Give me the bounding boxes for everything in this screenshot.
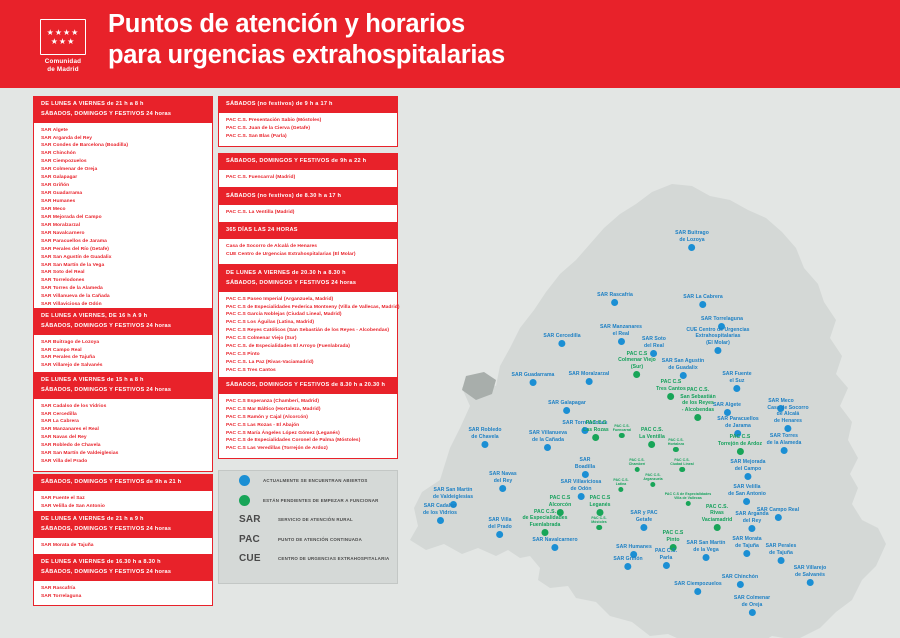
panel-item: PAC C.S Los Águilas (Latina, Madrid) <box>226 319 390 327</box>
map-point[interactable]: SAR Robledo de Chavela <box>468 427 501 448</box>
map-point[interactable]: Casa de Socorro de Alcalá de Henares <box>767 405 808 433</box>
map-point[interactable]: SAR San Agustín de Guadalix <box>662 358 704 379</box>
blue-dot-icon <box>436 517 443 524</box>
blue-dot-icon <box>582 471 589 478</box>
blue-dot-icon <box>625 563 632 570</box>
panel-item: PAC C.S. Fuencarral (Madrid) <box>226 174 390 182</box>
panel-item: SAR Torres de la Alameda <box>41 285 205 293</box>
map-point[interactable]: PAC C.S. San Sebastián de los Reyes - Al… <box>680 387 715 421</box>
map-point[interactable]: SAR Navalcarnero <box>532 537 577 552</box>
legend-key: PAC <box>239 534 273 545</box>
map-point-label: SAR Torres de la Alameda <box>767 433 802 446</box>
map-point[interactable]: SAR Navas del Rey <box>489 471 517 492</box>
panel-item: SAR Chinchón <box>41 150 205 158</box>
schedule-panel: SÁBADOS, DOMINGOS Y FESTIVOS de 9h a 22 … <box>218 153 398 188</box>
map-point[interactable]: SAR Boadilla <box>575 457 595 478</box>
panel-items: PAC C.S. Fuencarral (Madrid) <box>219 170 397 187</box>
panel-item: SAR Colmenar de Oreja <box>41 166 205 174</box>
legend-label: PUNTO DE ATENCIÓN CONTINUADA <box>278 537 362 542</box>
map-point-label: SAR Fuente el Suz <box>722 371 751 384</box>
blue-dot-icon <box>781 447 788 454</box>
green-dot-icon <box>694 414 701 421</box>
map-point-label: SAR Meco <box>768 398 794 405</box>
map-point-label: SAR Chinchón <box>722 574 758 581</box>
panel-item: SAR Condes de Barcelona (Boadilla) <box>41 142 205 150</box>
blue-dot-icon <box>734 385 741 392</box>
legend-key: CUE <box>239 553 273 564</box>
green-dot-icon <box>593 434 600 441</box>
panel-item: PAC C.S Esperanza (Chamberí, Madrid) <box>226 398 390 406</box>
panel-items: PAC C.S. La Ventilla (Madrid) <box>219 205 397 222</box>
map-point[interactable]: PAC C.S. Ciudad Lineal <box>670 458 694 473</box>
map-point[interactable]: SAR Arganda del Rey <box>735 511 768 532</box>
map-point-label: PAC C.S Torrejón de Ardoz <box>718 434 762 447</box>
green-dot-icon <box>239 495 250 506</box>
map-point[interactable]: PAC C.S. Hortaleza <box>668 438 684 453</box>
map-point[interactable]: PAC C.S Colmenar Viejo (Sur) <box>618 351 656 379</box>
green-dot-icon <box>619 433 625 439</box>
panel-items: PAC C.S. Presentación Sabio (Móstoles)PA… <box>219 113 397 146</box>
panel-heading: SÁBADOS, DOMINGOS Y FESTIVOS de 9h a 21 … <box>34 475 212 491</box>
panel-heading-line: SÁBADOS, DOMINGOS Y FESTIVOS de 8.30 h a… <box>226 381 391 391</box>
schedule-panel: SÁBADOS, DOMINGOS Y FESTIVOS de 8.30 h a… <box>218 377 398 459</box>
blue-dot-icon <box>662 562 669 569</box>
logo-stars-bottom: ★★★ <box>51 38 76 46</box>
blue-dot-icon <box>784 425 791 432</box>
map-point-label: SAR La Cabrera <box>683 294 722 301</box>
map-point[interactable]: SAR Galapagar <box>548 400 586 415</box>
blue-dot-icon <box>748 609 755 616</box>
map-point[interactable]: SAR Rascafría <box>597 292 633 307</box>
map-point-label: SAR Galapagar <box>548 400 586 407</box>
green-dot-icon <box>618 487 624 493</box>
panel-item: SAR Morata de Tajuña <box>41 542 205 550</box>
panel-item: SAR Velilla de San Antonio <box>41 503 205 511</box>
comunidad-de-madrid-logo: ★★★★ ★★★ Comunidad de Madrid <box>32 19 94 71</box>
blue-dot-icon <box>496 531 503 538</box>
panel-item: PAC C.S Ramón y Cajal (Alcorcón) <box>226 414 390 422</box>
legend-row: PACPUNTO DE ATENCIÓN CONTINUADA <box>219 530 397 550</box>
blue-dot-icon <box>529 379 536 386</box>
green-dot-icon <box>668 393 675 400</box>
blue-dot-icon <box>744 498 751 505</box>
page-header: ★★★★ ★★★ Comunidad de Madrid Puntos de a… <box>0 0 900 88</box>
green-dot-icon <box>633 371 640 378</box>
page-title-line2: para urgencias extrahospitalarias <box>108 40 505 71</box>
legend-key: SAR <box>239 514 273 525</box>
schedule-panel: SÁBADOS (no festivos) de 9 h a 17 hPAC C… <box>218 96 398 147</box>
panel-item: PAC C.S Pinto <box>226 351 390 359</box>
map-point[interactable]: SAR Villanueva de la Cañada <box>529 430 567 451</box>
map-point-label: PAC C.S. Arganzuela <box>643 473 662 481</box>
map-point-label: SAR Villanueva de la Cañada <box>529 430 567 443</box>
map-point-label: SAR Mejorada del Campo <box>730 459 765 472</box>
map-point-label: SAR Guadarrama <box>512 372 555 379</box>
panel-item: SAR Algete <box>41 127 205 135</box>
map-point[interactable]: SAR Guadarrama <box>512 372 555 387</box>
map-point[interactable]: SAR Villarejo de Salvanés <box>794 565 827 586</box>
panel-item: PAC C.S de Especialidades Coronel de Pal… <box>226 437 390 445</box>
map-point-label: PAC C.S Leganés <box>589 495 610 508</box>
panel-heading-line: DE LUNES A VIERNES, DE 16 h A 9 h <box>41 312 206 322</box>
map-point[interactable]: PAC C.S Leganés <box>589 495 610 516</box>
panel-item: PAC C.S. San Blas (Parla) <box>226 133 390 141</box>
panel-item: SAR Robledo de Chavela <box>41 442 205 450</box>
panel-heading-line: SÁBADOS, DOMINGOS Y FESTIVOS de 9h a 22 … <box>226 157 391 167</box>
map-point-label: SAR Soto del Real <box>642 336 666 349</box>
panel-heading: DE LUNES A VIERNES de 15 h a 8 hSÁBADOS,… <box>34 373 212 399</box>
map-point-label: PAC C.S. Latina <box>613 478 628 486</box>
blue-dot-icon <box>577 493 584 500</box>
map-point[interactable]: SAR Perales de Tajuña <box>766 543 797 564</box>
panel-items: Casa de Socorro de Alcalá de HenaresCUE … <box>219 239 397 264</box>
panel-heading: DE LUNES A VIERNES, DE 16 h A 9 hSÁBADOS… <box>34 309 212 335</box>
blue-dot-icon <box>499 485 506 492</box>
map-point-label: PAC C.S. San Sebastián de los Reyes - Al… <box>680 387 715 413</box>
green-dot-icon <box>596 525 602 531</box>
panel-item: SAR Fuente el Saz <box>41 495 205 503</box>
blue-dot-icon <box>714 347 721 354</box>
schedule-panel: DE LUNES A VIERNES, DE 16 h A 9 hSÁBADOS… <box>33 308 213 376</box>
map-point[interactable]: SAR La Cabrera <box>683 294 722 309</box>
map-point-label: SAR Arganda del Rey <box>735 511 768 524</box>
panel-item: PAC C.S. Juan de la Cierva (Getafe) <box>226 125 390 133</box>
map-point-label: CUE Centro de Urgencias Extrahospitalari… <box>686 327 749 347</box>
panel-heading: SÁBADOS, DOMINGOS Y FESTIVOS de 9h a 22 … <box>219 154 397 170</box>
map-point-label: SAR Villa del Prado <box>488 517 512 530</box>
map-point[interactable]: SAR Mejorada del Campo <box>730 459 765 480</box>
schedule-panel: DE LUNES A VIERNES de 20.30 h a 8.30 hSÁ… <box>218 265 398 381</box>
page-title: Puntos de atención y horarios para urgen… <box>108 9 505 71</box>
schedule-panel: DE LUNES A VIERNES de 21 h a 9 hSÁBADOS,… <box>33 511 213 556</box>
blue-dot-icon <box>806 579 813 586</box>
map-point-label: SAR Perales de Tajuña <box>766 543 797 556</box>
panel-heading-line: SÁBADOS, DOMINGOS Y FESTIVOS 24 horas <box>41 386 206 396</box>
panel-heading: SÁBADOS (no festivos) de 9 h a 17 h <box>219 97 397 113</box>
map-point-label: PAC C.S. La Ventilla <box>639 427 665 440</box>
map-point[interactable]: SAR Buitrago de Lozoya <box>675 230 709 251</box>
panel-item: SAR Cadalso de los Vidrios <box>41 403 205 411</box>
map-point-label: SAR Algete <box>713 402 741 409</box>
legend-row: SARSERVICIO DE ATENCIÓN RURAL <box>219 510 397 530</box>
legend-label: ESTÁN PENDIENTES DE EMPEZAR A FUNCIONAR <box>263 498 379 503</box>
map-point[interactable]: PAC C.S. Latina <box>613 478 628 493</box>
map-point-label: PAC C.S. Rivas Vaciamadrid <box>702 504 733 524</box>
panel-item: SAR Galapagar <box>41 174 205 182</box>
panel-items: SAR AlgeteSAR Arganda del ReySAR Condes … <box>34 123 212 315</box>
map-point-label: PAC C.S Las Rozas <box>583 420 609 433</box>
map-point-label: SAR Buitrago de Lozoya <box>675 230 709 243</box>
panel-heading-line: SÁBADOS (no festivos) de 8.30 h a 17 h <box>226 192 391 202</box>
map-point-label: PAC C.S Pinto <box>663 530 684 543</box>
schedule-panel: DE LUNES A VIERNES de 21 h a 8 hSÁBADOS,… <box>33 96 213 315</box>
blue-dot-icon <box>724 409 731 416</box>
panel-item: SAR San Agustín de Guadalix <box>41 254 205 262</box>
panel-item: PAC C.S María Ángeles López Gómez (Legan… <box>226 430 390 438</box>
panel-heading: 365 DÍAS LAS 24 HORAS <box>219 223 397 239</box>
map-point[interactable]: SAR Morata de Tajuña <box>732 536 761 557</box>
blue-dot-icon <box>695 588 702 595</box>
legend-row: CUECENTRO DE URGENCIAS EXTRAHOSPITALARIA <box>219 549 397 569</box>
schedule-panel: DE LUNES A VIERNES de 16.30 h a 8.30 hSÁ… <box>33 554 213 606</box>
map-point[interactable]: SAR Colmenar de Oreja <box>734 595 770 616</box>
green-dot-icon <box>634 467 640 473</box>
map-point[interactable]: PAC C.S. Rivas Vaciamadrid <box>702 504 733 532</box>
blue-dot-icon <box>744 473 751 480</box>
panel-item: PAC C.S. Presentación Sabio (Móstoles) <box>226 117 390 125</box>
logo-text-line2: de Madrid <box>32 66 94 74</box>
map-point-label: SAR Colmenar de Oreja <box>734 595 770 608</box>
panel-item: SAR Perales de Tajuña <box>41 354 205 362</box>
panel-item: SAR Soto del Real <box>41 269 205 277</box>
panel-item: PAC C.S Reyes Católicos (San Sebastián d… <box>226 327 390 335</box>
panel-item: SAR Torrelaguna <box>41 593 205 601</box>
blue-dot-icon <box>585 378 592 385</box>
map-point-label: SAR Cadalso de los Vidrios <box>423 503 457 516</box>
blue-dot-icon <box>702 554 709 561</box>
panel-item: SAR Paracuellos de Jarama <box>41 238 205 246</box>
panel-heading-line: DE LUNES A VIERNES de 21 h a 9 h <box>41 515 206 525</box>
legend-label: SERVICIO DE ATENCIÓN RURAL <box>278 517 353 522</box>
panel-item: SAR Buitrago de Lozoya <box>41 339 205 347</box>
map-legend: ACTUALMENTE SE ENCUENTRAN ABIERTOSESTÁN … <box>218 470 398 584</box>
map-point-label: SAR Torrelaguna <box>701 316 743 323</box>
panel-items: SAR Cadalso de los VidriosSAR Cercedilla… <box>34 399 212 472</box>
panel-item: PAC C.S. de Especialidades El Arroyo (Fu… <box>226 343 390 351</box>
map-point[interactable]: SAR Chinchón <box>722 574 758 589</box>
panel-item: PAC C.S Tres Cantos <box>226 367 390 375</box>
map-point-label: SAR Cercedilla <box>543 333 580 340</box>
panel-item: SAR San Martín de la Vega <box>41 262 205 270</box>
map-point-label: PAC C.S. Ciudad Lineal <box>670 458 694 466</box>
panel-item: SAR Mejorada del Campo <box>41 214 205 222</box>
blue-dot-icon <box>748 525 755 532</box>
blue-dot-icon <box>563 407 570 414</box>
green-dot-icon <box>714 524 721 531</box>
blue-dot-icon <box>777 557 784 564</box>
panel-items: SAR Morata de Tajuña <box>34 538 212 555</box>
panel-item: SAR Guadarrama <box>41 190 205 198</box>
blue-dot-icon <box>552 544 559 551</box>
green-dot-icon <box>542 529 549 536</box>
map-point[interactable]: SAR Torres de la Alameda <box>767 433 802 454</box>
map-point[interactable]: SAR Griñón <box>613 556 642 571</box>
blue-dot-icon <box>544 444 551 451</box>
panel-item: SAR Meco <box>41 206 205 214</box>
map-point-label: PAC C.S Colmenar Viejo (Sur) <box>618 351 656 371</box>
panel-item: PAC C.S. La Paz (Rivas-Vaciamadrid) <box>226 359 390 367</box>
map-point[interactable]: SAR Fuente el Suz <box>722 371 751 392</box>
panel-item: CUE Centro de Urgencias Extrahospitalari… <box>226 251 390 259</box>
panel-item: SAR Campo Real <box>41 347 205 355</box>
blue-dot-icon <box>679 372 686 379</box>
legend-row: ESTÁN PENDIENTES DE EMPEZAR A FUNCIONAR <box>219 491 397 511</box>
panel-item: Casa de Socorro de Alcalá de Henares <box>226 243 390 251</box>
map-point[interactable]: PAC C.S Las Rozas <box>583 420 609 441</box>
panel-item: SAR Villarejo de Salvanés <box>41 362 205 370</box>
panel-item: SAR Torrelodones <box>41 277 205 285</box>
panel-item: PAC C.S Las Rozas - El Abajón <box>226 422 390 430</box>
panel-heading: DE LUNES A VIERNES de 21 h a 9 hSÁBADOS,… <box>34 512 212 538</box>
panel-heading-line: SÁBADOS, DOMINGOS Y FESTIVOS 24 horas <box>41 568 206 578</box>
schedule-panel: 365 DÍAS LAS 24 HORASCasa de Socorro de … <box>218 222 398 265</box>
legend-label: ACTUALMENTE SE ENCUENTRAN ABIERTOS <box>263 478 368 483</box>
panel-item: PAC C.S Mar Báltico (Hortaleza, Madrid) <box>226 406 390 414</box>
map-point[interactable]: SAR y PAC Getafe <box>630 510 657 531</box>
panel-item: SAR La Cabrera <box>41 418 205 426</box>
logo-emblem-icon: ★★★★ ★★★ <box>40 19 86 55</box>
panel-heading-line: DE LUNES A VIERNES de 21 h a 8 h <box>41 100 206 110</box>
map-point-label: SAR San Agustín de Guadalix <box>662 358 704 371</box>
page-title-line1: Puntos de atención y horarios <box>108 9 505 40</box>
map-point-label: SAR Griñón <box>613 556 642 563</box>
map-point-label: SAR Rascafría <box>597 292 633 299</box>
map-point-label: SAR Manzanares el Real <box>600 324 642 337</box>
panel-item: SAR Villa del Prado <box>41 458 205 466</box>
panel-item: PAC C.S Paseo Imperial (Arganzuela, Madr… <box>226 296 390 304</box>
panel-item: SAR Humanes <box>41 198 205 206</box>
map-point[interactable]: PAC C.S. Chamberí <box>629 458 646 473</box>
panel-heading-line: DE LUNES A VIERNES de 20.30 h a 8.30 h <box>226 269 391 279</box>
map-point[interactable]: SAR San Martín de la Vega <box>687 540 726 561</box>
panel-item: PAC C.S García Noblejas (Ciudad Lineal, … <box>226 311 390 319</box>
panel-item: SAR San Martín de Valdeiglesias <box>41 450 205 458</box>
panel-items: SAR RascafríaSAR Torrelaguna <box>34 581 212 606</box>
map-point-label: PAC C.S de Especialidades Villa de Valle… <box>665 492 712 500</box>
panel-item: SAR Ciempozuelos <box>41 158 205 166</box>
blue-dot-icon <box>775 514 782 521</box>
map-point-label: PAC C.S. Parla <box>655 548 677 561</box>
madrid-map: SAR Buitrago de LozoyaSAR RascafríaSAR L… <box>400 88 900 638</box>
blue-dot-icon <box>736 581 743 588</box>
map-point-label: SAR San Martín de la Vega <box>687 540 726 553</box>
map-point-label: SAR San Martín de Valdeiglesias <box>433 487 473 500</box>
map-point[interactable]: PAC C.S. La Ventilla <box>639 427 665 448</box>
map-point[interactable]: SAR Ciempozuelos <box>674 581 722 596</box>
panel-heading-line: SÁBADOS, DOMINGOS Y FESTIVOS de 9h a 21 … <box>41 478 206 488</box>
map-point-label: SAR Villarejo de Salvanés <box>794 565 827 578</box>
green-dot-icon <box>673 447 679 453</box>
map-point-label: SAR Morata de Tajuña <box>732 536 761 549</box>
map-point-label: SAR y PAC Getafe <box>630 510 657 523</box>
blue-dot-icon <box>482 441 489 448</box>
map-point-label: SAR Paracuellos de Jarama <box>717 416 759 429</box>
map-point-label: PAC C.S. de Especialidades Fuenlabrada <box>522 509 567 529</box>
blue-dot-icon <box>618 338 625 345</box>
map-point[interactable]: PAC C.S. Fuencarral <box>613 424 631 439</box>
panel-heading: DE LUNES A VIERNES de 16.30 h a 8.30 hSÁ… <box>34 555 212 581</box>
map-point-label: SAR Navalcarnero <box>532 537 577 544</box>
panel-item: SAR Griñón <box>41 182 205 190</box>
panel-item: PAC C.S. La Ventilla (Madrid) <box>226 209 390 217</box>
panel-items: PAC C.S Paseo Imperial (Arganzuela, Madr… <box>219 292 397 380</box>
map-point[interactable]: PAC C.S. Parla <box>655 548 677 569</box>
legend-label: CENTRO DE URGENCIAS EXTRAHOSPITALARIA <box>278 556 389 561</box>
panel-item: PAC C.S Las Veredillas (Torrejón de Ardo… <box>226 445 390 453</box>
map-point-label: PAC C.S. Fuencarral <box>613 424 631 432</box>
panel-items: PAC C.S Esperanza (Chamberí, Madrid)PAC … <box>219 394 397 459</box>
map-point-label: SAR Robledo de Chavela <box>468 427 501 440</box>
green-dot-icon <box>649 441 656 448</box>
panel-heading: DE LUNES A VIERNES de 21 h a 8 hSÁBADOS,… <box>34 97 212 123</box>
panel-heading-line: SÁBADOS, DOMINGOS Y FESTIVOS 24 horas <box>41 525 206 535</box>
map-point-label: PAC C.S. Hortaleza <box>668 438 684 446</box>
green-dot-icon <box>679 467 685 473</box>
map-point[interactable]: SAR Cadalso de los Vidrios <box>423 503 457 524</box>
panel-item: SAR Manzanares el Real <box>41 426 205 434</box>
logo-stars-top: ★★★★ <box>47 29 80 37</box>
map-point-label: SAR Ciempozuelos <box>674 581 722 588</box>
map-point-label: Casa de Socorro de Alcalá de Henares <box>767 405 808 425</box>
map-point-label: PAC C.S. Móstoles <box>591 516 607 524</box>
blue-dot-icon <box>611 299 618 306</box>
poster-root: ★★★★ ★★★ Comunidad de Madrid Puntos de a… <box>0 0 900 638</box>
panel-heading-line: SÁBADOS, DOMINGOS Y FESTIVOS 24 horas <box>41 322 206 332</box>
map-point[interactable]: PAC C.S Torrejón de Ardoz <box>718 434 762 455</box>
panel-heading: DE LUNES A VIERNES de 20.30 h a 8.30 hSÁ… <box>219 266 397 292</box>
panel-heading-line: 365 DÍAS LAS 24 HORAS <box>226 226 391 236</box>
panel-item: SAR Perales del Río (Getafe) <box>41 246 205 254</box>
panel-item: SAR Rascafría <box>41 585 205 593</box>
map-point[interactable]: SAR Manzanares el Real <box>600 324 642 345</box>
map-point-label: SAR Moralzarzal <box>569 371 610 378</box>
green-dot-icon <box>685 501 691 507</box>
map-point[interactable]: PAC C.S. Arganzuela <box>643 473 662 488</box>
blue-dot-icon <box>689 244 696 251</box>
map-point[interactable]: SAR Velilla de San Antonio <box>728 484 766 505</box>
blue-dot-icon <box>239 475 250 486</box>
map-point[interactable]: SAR Villa del Prado <box>488 517 512 538</box>
blue-dot-icon <box>744 550 751 557</box>
map-point[interactable]: PAC C.S. Móstoles <box>591 516 607 531</box>
legend-row: ACTUALMENTE SE ENCUENTRAN ABIERTOS <box>219 471 397 491</box>
map-point-label: PAC C.S Alcorcón <box>549 495 571 508</box>
schedule-panel: DE LUNES A VIERNES de 15 h a 8 hSÁBADOS,… <box>33 372 213 472</box>
map-point[interactable]: PAC C.S. de Especialidades Fuenlabrada <box>522 509 567 537</box>
map-point[interactable]: SAR Algete <box>713 402 741 417</box>
map-point-label: SAR Villaviciosa de Odón <box>561 479 602 492</box>
map-point[interactable]: CUE Centro de Urgencias Extrahospitalari… <box>686 327 749 355</box>
panel-heading: SÁBADOS, DOMINGOS Y FESTIVOS de 8.30 h a… <box>219 378 397 394</box>
blue-dot-icon <box>699 301 706 308</box>
panel-item: SAR Cercedilla <box>41 411 205 419</box>
schedule-panel: SÁBADOS (no festivos) de 8.30 h a 17 hPA… <box>218 188 398 223</box>
panel-item: PAC C.S Colmenar Viejo (Sur) <box>226 335 390 343</box>
panel-item: SAR Navalcarnero <box>41 230 205 238</box>
map-point-label: SAR Humanes <box>616 544 652 551</box>
map-point[interactable]: SAR Moralzarzal <box>569 371 610 386</box>
panel-heading-line: DE LUNES A VIERNES de 16.30 h a 8.30 h <box>41 558 206 568</box>
panel-item: SAR Villanueva de la Cañada <box>41 293 205 301</box>
map-point-label: PAC C.S. Chamberí <box>629 458 646 466</box>
panel-item: SAR Arganda del Rey <box>41 135 205 143</box>
panel-heading: SÁBADOS (no festivos) de 8.30 h a 17 h <box>219 189 397 205</box>
panel-heading-line: SÁBADOS, DOMINGOS Y FESTIVOS 24 horas <box>41 110 206 120</box>
map-point-label: SAR Boadilla <box>575 457 595 470</box>
green-dot-icon <box>650 482 656 488</box>
map-point-label: SAR Navas del Rey <box>489 471 517 484</box>
map-point-label: SAR Velilla de San Antonio <box>728 484 766 497</box>
blue-dot-icon <box>641 524 648 531</box>
panel-heading-line: DE LUNES A VIERNES de 15 h a 8 h <box>41 376 206 386</box>
panel-heading-line: SÁBADOS (no festivos) de 9 h a 17 h <box>226 100 391 110</box>
map-point[interactable]: SAR Cercedilla <box>543 333 580 348</box>
green-dot-icon <box>737 448 744 455</box>
blue-dot-icon <box>558 340 565 347</box>
panel-heading-line: SÁBADOS, DOMINGOS Y FESTIVOS 24 horas <box>226 279 391 289</box>
logo-text-line1: Comunidad <box>32 58 94 66</box>
panel-item: SAR Moralzarzal <box>41 222 205 230</box>
